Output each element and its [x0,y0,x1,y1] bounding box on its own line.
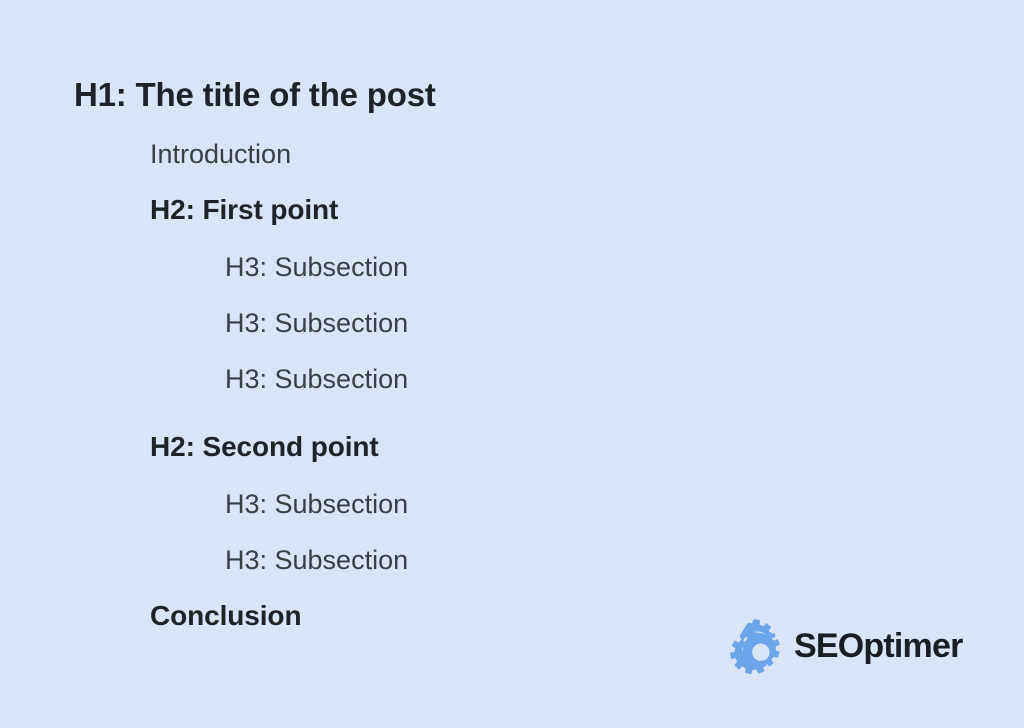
outline-item-h3: H3: Subsection [225,547,408,574]
outline-item-h3: H3: Subsection [225,254,408,281]
outline-item-h2: H2: Second point [150,433,379,461]
logo-wordmark: SEOptimer [794,629,963,665]
outline-item-intro: Introduction [150,141,291,168]
outline-item-h3: H3: Subsection [225,491,408,518]
interlocking-gears-icon [726,618,784,676]
outline-item-h2: H2: First point [150,196,338,224]
seoptimer-logo: SEOptimer [726,618,963,676]
outline-item-conclusion: Conclusion [150,602,301,630]
outline-item-h3: H3: Subsection [225,310,408,337]
slide-canvas: H1: The title of the postIntroductionH2:… [0,0,1024,728]
outline-item-h1: H1: The title of the post [74,78,436,111]
outline-item-h3: H3: Subsection [225,366,408,393]
